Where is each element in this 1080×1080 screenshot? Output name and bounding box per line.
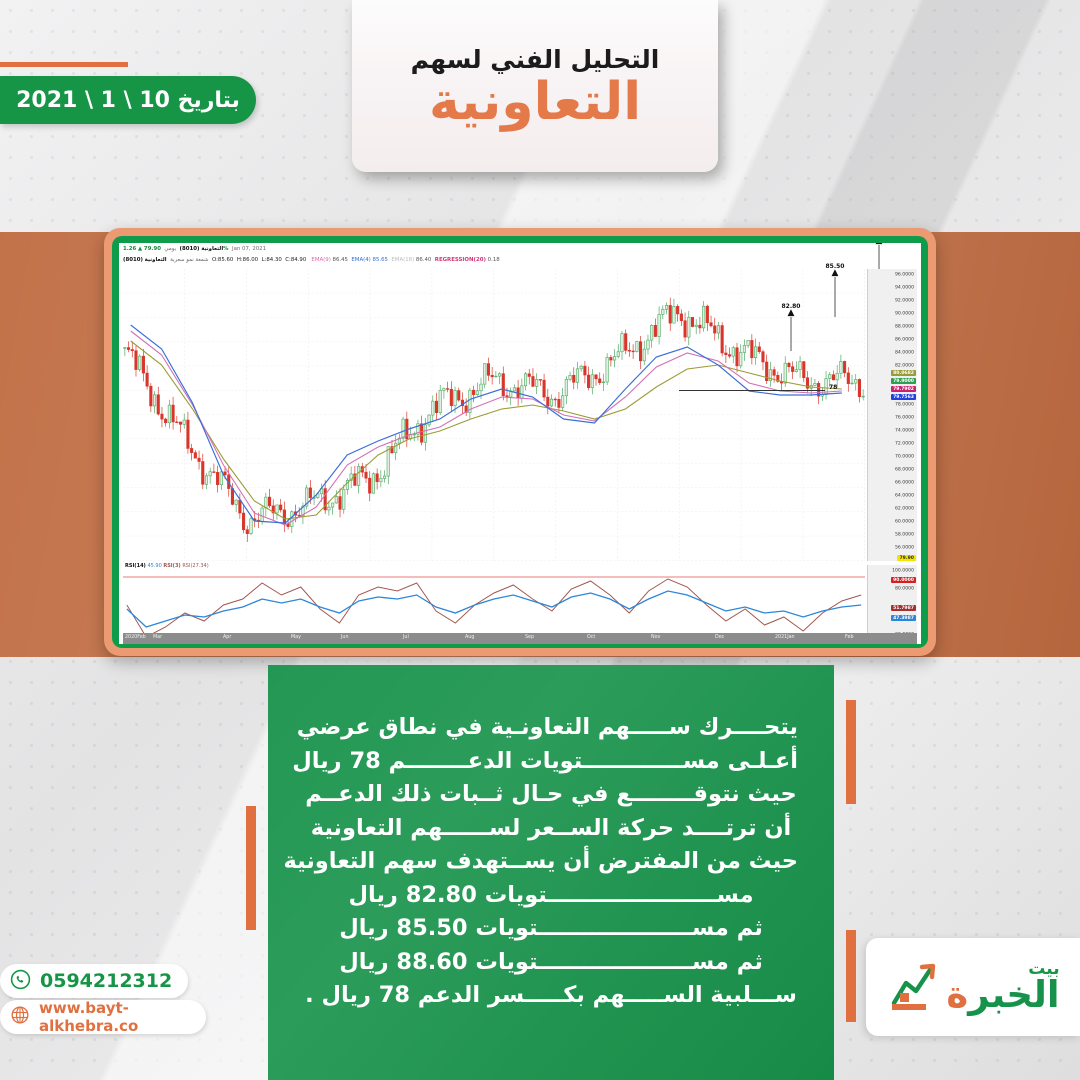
price-plot-area: 82.80 ▲ 85.50 ▲ 88.60 ▲ 78 (123, 269, 865, 561)
chart-series-name-ar: شمعة نمو سعرية (170, 257, 208, 263)
chart-green-frame: التعاونية (8010) يومي 79.90 ▲ 1.26% Jan … (112, 236, 928, 648)
website-contact-pill[interactable]: www.bayt-alkhebra.co (0, 1000, 206, 1034)
annotation-stem (790, 317, 791, 351)
up-arrow-icon: ▲ (782, 310, 801, 317)
page-subtitle: التحليل الفني لسهم (411, 45, 660, 74)
time-axis-tick: Aug (465, 635, 474, 640)
price-axis-tick: 62.0000 (895, 507, 914, 512)
chart-symbol-ar-2: التعاونية (145, 257, 167, 263)
time-axis-tick: Feb (845, 635, 854, 640)
price-axis-tick: 56.0000 (895, 546, 914, 551)
time-axis[interactable]: 2020Feb Mar Apr May Jun Jul Aug Sep Oct … (123, 633, 917, 644)
analysis-line: مســــــــــــــــــــــتويات 82.80 ريال (304, 879, 798, 913)
price-plot-svg (123, 269, 865, 561)
brand-logo[interactable]: بيت الخبرة (866, 938, 1080, 1036)
chart-low: L:84.30 (262, 257, 282, 263)
date-badge-label: بتاريخ 10 \ 1 \ 2021 (16, 88, 240, 113)
price-axis-tick: 86.0000 (895, 338, 914, 343)
price-axis-pill: 80.0682 (891, 370, 916, 376)
price-axis-tick: 90.0000 (895, 312, 914, 317)
annotation-target-2: 85.50 ▲ (826, 263, 845, 317)
chart-ema4-label: EMA(4) (351, 257, 370, 263)
rsi-header-row: RSI(14) 45.90 RSI(3) RSI(27.34) (125, 563, 209, 569)
whatsapp-contact-pill[interactable]: 0594212312 (0, 964, 188, 998)
rsi-axis-pill: 51.7987 (891, 605, 916, 611)
chart-quote-date: Jan 07, 2021 (232, 246, 266, 252)
rsi-axis-tick: 80.0000 (895, 587, 914, 592)
date-badge: بتاريخ 10 \ 1 \ 2021 (0, 76, 256, 124)
price-axis-pill: 79.7563 (891, 394, 916, 400)
accent-bar-right-bottom (846, 930, 856, 1022)
rsi-extra-label: RSI(27.34) (182, 563, 208, 569)
page-title: التعاونية (429, 76, 641, 128)
time-axis-tick: Mar (153, 635, 162, 640)
rsi3-label: RSI(3) (163, 563, 180, 569)
globe-icon (10, 1005, 30, 1029)
price-axis-pill: 79.7902 (891, 386, 916, 392)
time-axis-tick: Nov (651, 635, 660, 640)
up-arrow-icon: ▲ (870, 243, 889, 245)
price-axis-tick: 92.0000 (895, 299, 914, 304)
analysis-line: يتحــــرك ســـــهم التعاونـية في نطاق عر… (304, 711, 798, 745)
logo-maintext: الخبرة (946, 976, 1059, 1013)
time-axis-tick: Oct (587, 635, 595, 640)
chart-symbol-ar: التعاونية (201, 246, 223, 252)
chart-header-row-primary: التعاونية (8010) يومي 79.90 ▲ 1.26% Jan … (123, 246, 266, 252)
price-axis[interactable]: 96.0000 94.0000 92.0000 90.0000 88.0000 … (867, 269, 917, 561)
price-axis-tick: 82.0000 (895, 364, 914, 369)
price-axis-tick: 88.0000 (895, 325, 914, 330)
support-level-line (679, 390, 825, 391)
price-axis-tick: 84.0000 (895, 351, 914, 356)
chart-ema9-value: 86.45 (333, 257, 348, 263)
chart-period-ar: يومي (164, 246, 176, 252)
price-axis-tick: 96.0000 (895, 273, 914, 278)
annotation-stem (834, 277, 835, 317)
chart-ema4-value: 85.65 (373, 257, 388, 263)
accent-bar-right-top (846, 700, 856, 804)
chart-canvas: التعاونية (8010) يومي 79.90 ▲ 1.26% Jan … (119, 243, 921, 644)
time-axis-tick: Jul (403, 635, 409, 640)
analysis-line: ســـلبية الســـــهم بكـــــسر الدعم 78 ر… (304, 979, 798, 1013)
rsi14-label: RSI(14) (125, 563, 146, 569)
price-axis-tick: 72.0000 (895, 442, 914, 447)
rsi-axis-pill: 90.0000 (891, 577, 916, 583)
time-axis-tick: Sep (525, 635, 534, 640)
header: التحليل الفني لسهم التعاونية بتاريخ 10 \… (0, 0, 1080, 232)
time-axis-tick: 2021Jan (775, 635, 795, 640)
chart-change-arrow-icon: ▲ (138, 246, 142, 252)
analysis-text-lines: يتحــــرك ســـــهم التعاونـية في نطاق عر… (268, 665, 834, 1013)
logo-main-part-b: ة (946, 973, 968, 1016)
price-axis-tick: 60.0000 (895, 520, 914, 525)
annotation-target-1: 82.80 ▲ (782, 303, 801, 351)
title-card: التحليل الفني لسهم التعاونية (352, 0, 718, 172)
whatsapp-number: 0594212312 (40, 970, 172, 992)
chart-ema18-label: EMA(18) (391, 257, 414, 263)
analysis-line: حيث نتوقــــــــع في حـال ثــبات ذلك الد… (304, 778, 798, 812)
price-axis-last-pill: 79.90 (897, 555, 916, 561)
analysis-line: أن ترتــــد حركة الســعر لســــــهم التع… (304, 812, 798, 846)
time-axis-tick: May (291, 635, 301, 640)
chart-ema9-label: EMA(9) (311, 257, 330, 263)
price-axis-tick: 58.0000 (895, 533, 914, 538)
analysis-line: ثم مســــــــــــــــــــتويات 85.50 ريا… (304, 912, 798, 946)
chart-symbol-code-2: (8010) (123, 257, 143, 263)
analysis-line: حيث من المفترض أن يســتهدف سهم التعاونية (304, 845, 798, 879)
logo-main-part-a: الخبر (968, 973, 1059, 1016)
chart-close: C:84.90 (285, 257, 306, 263)
rsi-axis-pill: 47.3987 (891, 615, 916, 621)
time-axis-tick: 2020Feb (125, 635, 146, 640)
time-axis-tick: Dec (715, 635, 724, 640)
chart-card: التعاونية (8010) يومي 79.90 ▲ 1.26% Jan … (104, 228, 936, 656)
support-level-label: 78 (829, 384, 837, 391)
price-axis-tick: 66.0000 (895, 481, 914, 486)
whatsapp-icon (10, 969, 31, 994)
price-axis-tick: 64.0000 (895, 494, 914, 499)
date-accent-rule (0, 62, 128, 67)
website-url: www.bayt-alkhebra.co (39, 999, 190, 1035)
time-axis-tick: Apr (223, 635, 231, 640)
price-axis-tick: 76.0000 (895, 416, 914, 421)
chart-regression-label: REGRESSION(20) (435, 257, 486, 263)
chart-symbol-code: (8010) (180, 246, 200, 252)
analysis-text-panel: يتحــــرك ســـــهم التعاونـية في نطاق عر… (268, 665, 834, 1080)
price-axis-tick: 94.0000 (895, 286, 914, 291)
chart-regression-value: 0.18 (488, 257, 500, 263)
price-axis-tick: 78.0000 (895, 403, 914, 408)
price-axis-pill: 79.9000 (891, 378, 916, 384)
price-axis-tick: 74.0000 (895, 429, 914, 434)
time-axis-tick: Jun (341, 635, 349, 640)
rsi14-value: 45.90 (147, 563, 161, 569)
chart-last-price: 79.90 (144, 246, 161, 252)
price-axis-tick: 70.0000 (895, 455, 914, 460)
price-axis-tick: 68.0000 (895, 468, 914, 473)
rsi-axis-tick: 100.0000 (892, 569, 914, 574)
analysis-line: ثم مســــــــــــــــــــتويات 88.60 ريا… (304, 946, 798, 980)
chart-header-row-indicators: شمعة نمو سعرية التعاونية (8010) O:85.60 … (123, 257, 500, 263)
chart-high: H:86.00 (237, 257, 258, 263)
up-arrow-icon: ▲ (826, 270, 845, 277)
chart-ema18-value: 86.40 (416, 257, 431, 263)
chart-open: O:85.60 (212, 257, 233, 263)
analysis-line: أعـلـى مســـــــــــــتويات الدعــــــــ… (304, 745, 798, 779)
growth-arrow-icon (886, 957, 942, 1017)
accent-bar-left (246, 806, 256, 930)
logo-wordmark: بيت الخبرة (946, 961, 1059, 1013)
